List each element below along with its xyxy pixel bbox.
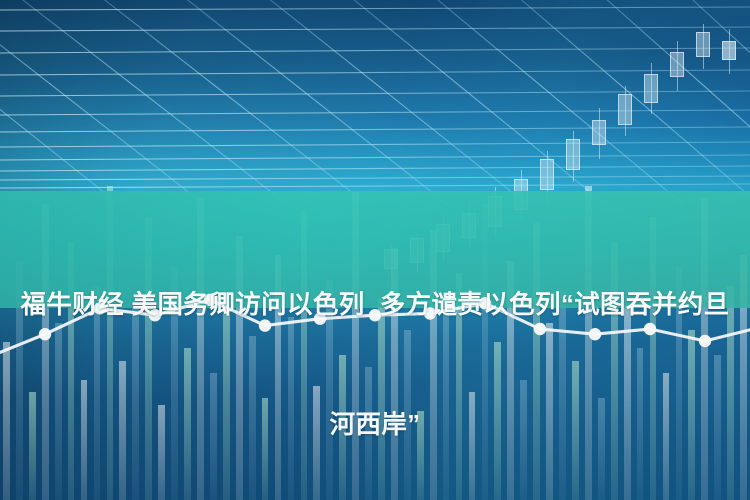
headline-line-2: 河西岸”: [6, 405, 744, 445]
headline-text: 福牛财经 美国务卿访问以色列 多方谴责以色列“试图吞并约旦 河西岸”: [0, 205, 750, 500]
news-banner-image: 福牛财经 美国务卿访问以色列 多方谴责以色列“试图吞并约旦 河西岸”: [0, 0, 750, 500]
headline-line-1: 福牛财经 美国务卿访问以色列 多方谴责以色列“试图吞并约旦: [6, 285, 744, 325]
